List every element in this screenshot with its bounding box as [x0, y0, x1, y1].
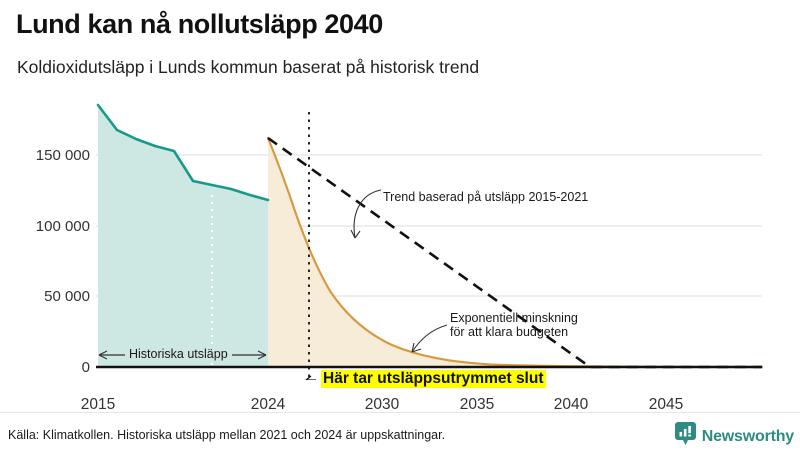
budget-callout-arrow [306, 376, 316, 380]
exponential-annotation-line1: Exponentiell minskning [450, 311, 578, 325]
newsworthy-wordmark: Newsworthy [702, 428, 794, 446]
chart-plot-area [0, 90, 800, 380]
historic-area [98, 105, 268, 367]
historic-range-label: Historiska utsläpp [125, 347, 232, 361]
exponential-annotation-leader [412, 325, 447, 352]
trend-annotation-arrowhead [351, 230, 360, 238]
page-subtitle: Koldioxidutsläpp i Lunds kommun baserat … [17, 57, 479, 78]
source-note: Källa: Klimatkollen. Historiska utsläpp … [8, 428, 445, 442]
newsworthy-logo[interactable]: Newsworthy [675, 422, 794, 451]
footer-divider [0, 412, 800, 413]
bar-chart-pin-icon [675, 422, 696, 451]
x-axis-labels: 2015 2024 2030 2035 2040 2045 [0, 396, 800, 422]
budget-exhausted-callout: Här tar utsläppsutrymmet slut [321, 370, 546, 388]
page-title: Lund kan nå nollutsläpp 2040 [16, 9, 383, 40]
trend-annotation: Trend baserad på utsläpp 2015-2021 [383, 190, 588, 204]
chart-page: Lund kan nå nollutsläpp 2040 Koldioxidut… [0, 0, 800, 450]
exponential-annotation-line2: för att klara budgeten [450, 325, 568, 339]
